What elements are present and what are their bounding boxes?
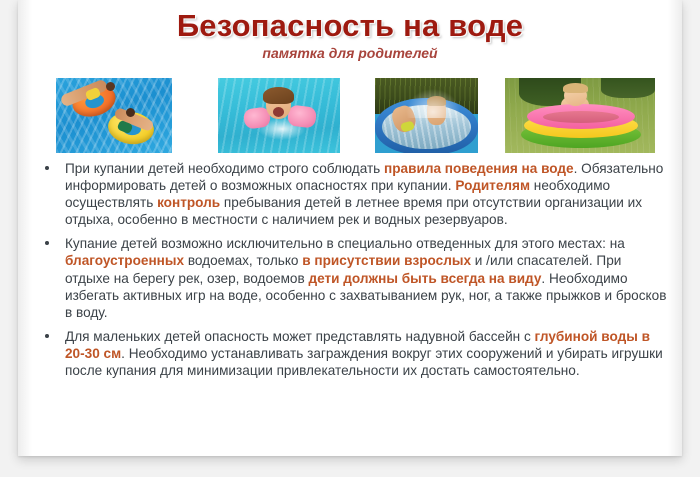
page-subtitle: памятка для родителей — [18, 44, 682, 62]
photo-strip — [18, 78, 682, 153]
tip-designated-places: Купание детей возможно исключительно в с… — [18, 235, 682, 320]
photo-children-in-inflatable-pool — [375, 78, 478, 153]
tip-bathing-rules: При купании детей необходимо строго собл… — [18, 160, 682, 228]
water-spray — [405, 88, 461, 118]
person-head-2 — [126, 108, 135, 117]
highlighted-phrase: контроль — [157, 195, 220, 210]
highlighted-phrase: благоустроенных — [65, 253, 184, 268]
highlighted-phrase: дети должны быть всегда на виду — [308, 271, 541, 286]
photo-two-people-on-inner-tubes — [56, 78, 172, 153]
pool-ring-pink — [527, 104, 635, 129]
page-title: Безопасность на воде — [18, 9, 682, 43]
poster-card: Безопасность на воде памятка для родител… — [18, 0, 682, 456]
highlighted-phrase: глубиной воды в 20-30 см — [65, 329, 650, 361]
tips-content: При купании детей необходимо строго собл… — [18, 160, 682, 386]
photo-child-with-armbands — [218, 78, 340, 153]
highlighted-phrase: Родителям — [455, 178, 530, 193]
child-open-mouth — [273, 107, 284, 117]
tip-inflatable-pool-depth: Для маленьких детей опасность может пред… — [18, 328, 682, 379]
bush-right — [601, 78, 655, 98]
toddler-hair — [563, 83, 588, 93]
poster-header: Безопасность на воде памятка для родител… — [18, 0, 682, 62]
tips-list: При купании детей необходимо строго собл… — [18, 160, 682, 379]
child-hair — [263, 87, 294, 104]
photo-toddler-in-rainbow-pool — [505, 78, 655, 153]
pink-armband-right — [287, 104, 317, 128]
highlighted-phrase: в присутствии взрослых — [302, 253, 471, 268]
highlighted-phrase: правила поведения на воде — [384, 161, 574, 176]
person-head-1 — [106, 82, 115, 91]
